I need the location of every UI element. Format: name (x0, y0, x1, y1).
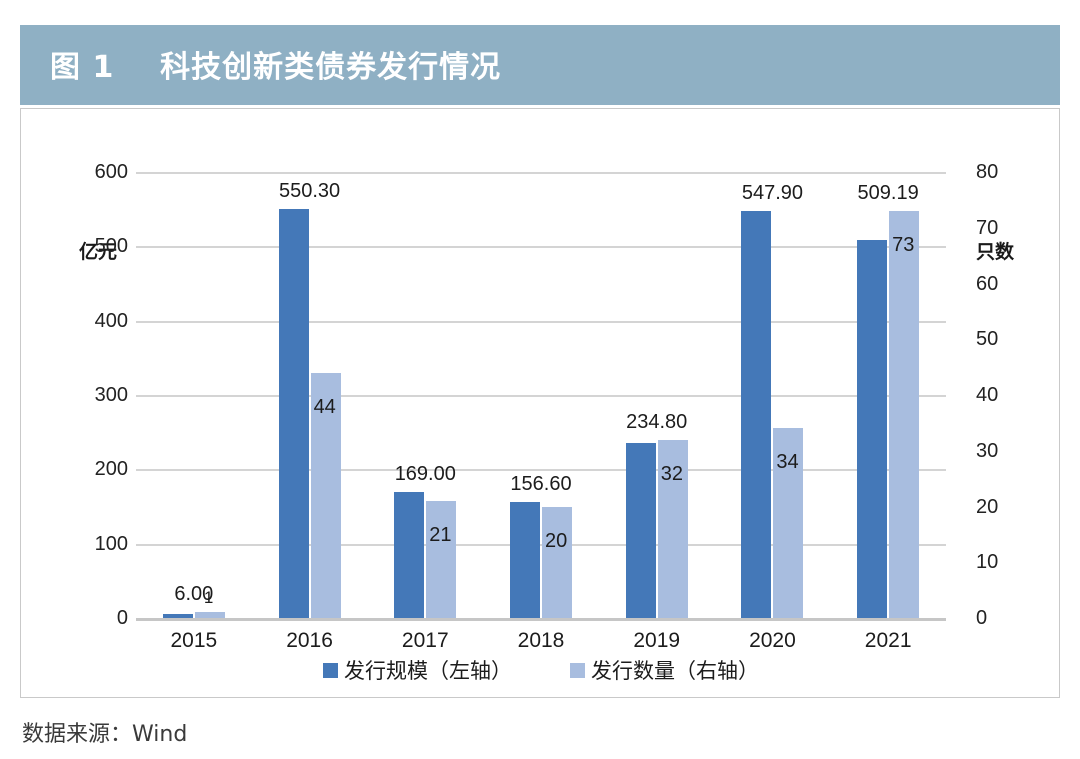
legend-swatch-primary-icon (323, 663, 338, 678)
value-label-scale-2020: 547.90 (727, 183, 817, 203)
y-tick-right: 60 (976, 274, 1038, 294)
bar-scale-2016[interactable] (279, 209, 309, 618)
legend-label-secondary: 发行数量（右轴） (591, 655, 759, 685)
source-note: 数据来源：Wind (22, 716, 187, 748)
y-tick-left: 600 (66, 162, 128, 182)
y-tick-left: 500 (66, 236, 128, 256)
value-label-scale-2018: 156.60 (496, 474, 586, 494)
y-tick-right: 20 (976, 497, 1038, 517)
gridline (136, 395, 946, 397)
gridline (136, 172, 946, 174)
y-tick-right: 80 (976, 162, 1038, 182)
x-tick-2016: 2016 (260, 630, 360, 651)
bar-scale-2021[interactable] (857, 240, 887, 618)
y-tick-right: 50 (976, 329, 1038, 349)
chart-legend: 发行规模（左轴） 发行数量（右轴） (21, 655, 1061, 685)
y-tick-right: 40 (976, 385, 1038, 405)
x-tick-2020: 2020 (722, 630, 822, 651)
value-label-scale-2021: 509.19 (843, 183, 933, 203)
bar-scale-2020[interactable] (741, 211, 771, 618)
value-label-count-2017: 21 (429, 525, 451, 545)
value-label-count-2019: 32 (661, 464, 683, 484)
y-tick-left: 400 (66, 311, 128, 331)
page-title: 图 1 科技创新类债券发行情况 (50, 42, 501, 86)
x-tick-2019: 2019 (607, 630, 707, 651)
bar-count-2017[interactable] (426, 501, 456, 618)
y-tick-right: 10 (976, 552, 1038, 572)
y-tick-left: 300 (66, 385, 128, 405)
x-tick-2017: 2017 (375, 630, 475, 651)
value-label-count-2018: 20 (545, 531, 567, 551)
bar-scale-2019[interactable] (626, 443, 656, 618)
y-axis-unit-right: 只数 (976, 237, 1014, 264)
x-tick-2021: 2021 (838, 630, 938, 651)
gridline (136, 544, 946, 546)
bar-scale-2017[interactable] (394, 492, 424, 618)
x-tick-2018: 2018 (491, 630, 591, 651)
bar-scale-2018[interactable] (510, 502, 540, 618)
legend-item-issuance-scale[interactable]: 发行规模（左轴） (323, 655, 512, 685)
gridline (136, 321, 946, 323)
figure-container: 图 1 科技创新类债券发行情况 亿元 只数 6.001550.3044169.0… (0, 0, 1080, 759)
bar-count-2015[interactable] (195, 612, 225, 618)
bar-scale-2015[interactable] (163, 614, 193, 618)
value-label-scale-2015: 6.00 (149, 584, 239, 604)
y-tick-right: 30 (976, 441, 1038, 461)
legend-swatch-secondary-icon (570, 663, 585, 678)
value-label-scale-2019: 234.80 (612, 412, 702, 432)
y-tick-left: 200 (66, 459, 128, 479)
gridline (136, 469, 946, 471)
value-label-scale-2016: 550.30 (265, 181, 355, 201)
y-tick-left: 100 (66, 534, 128, 554)
legend-label-primary: 发行规模（左轴） (344, 655, 512, 685)
bar-count-2021[interactable] (889, 211, 919, 618)
y-tick-left: 0 (66, 608, 128, 628)
plot-area: 6.001550.3044169.0021156.6020234.8032547… (136, 172, 946, 618)
value-label-count-2015: 1 (204, 589, 213, 606)
axis-baseline (136, 618, 946, 621)
value-label-count-2020: 34 (776, 452, 798, 472)
x-tick-2015: 2015 (144, 630, 244, 651)
gridline (136, 246, 946, 248)
y-tick-right: 70 (976, 218, 1038, 238)
figure-title-banner: 图 1 科技创新类债券发行情况 (20, 25, 1060, 105)
value-label-count-2016: 44 (314, 397, 336, 417)
bar-count-2018[interactable] (542, 507, 572, 619)
y-tick-right: 0 (976, 608, 1038, 628)
chart-frame: 亿元 只数 6.001550.3044169.0021156.6020234.8… (20, 108, 1060, 698)
value-label-scale-2017: 169.00 (380, 464, 470, 484)
value-label-count-2021: 73 (892, 235, 914, 255)
legend-item-issuance-count[interactable]: 发行数量（右轴） (570, 655, 759, 685)
